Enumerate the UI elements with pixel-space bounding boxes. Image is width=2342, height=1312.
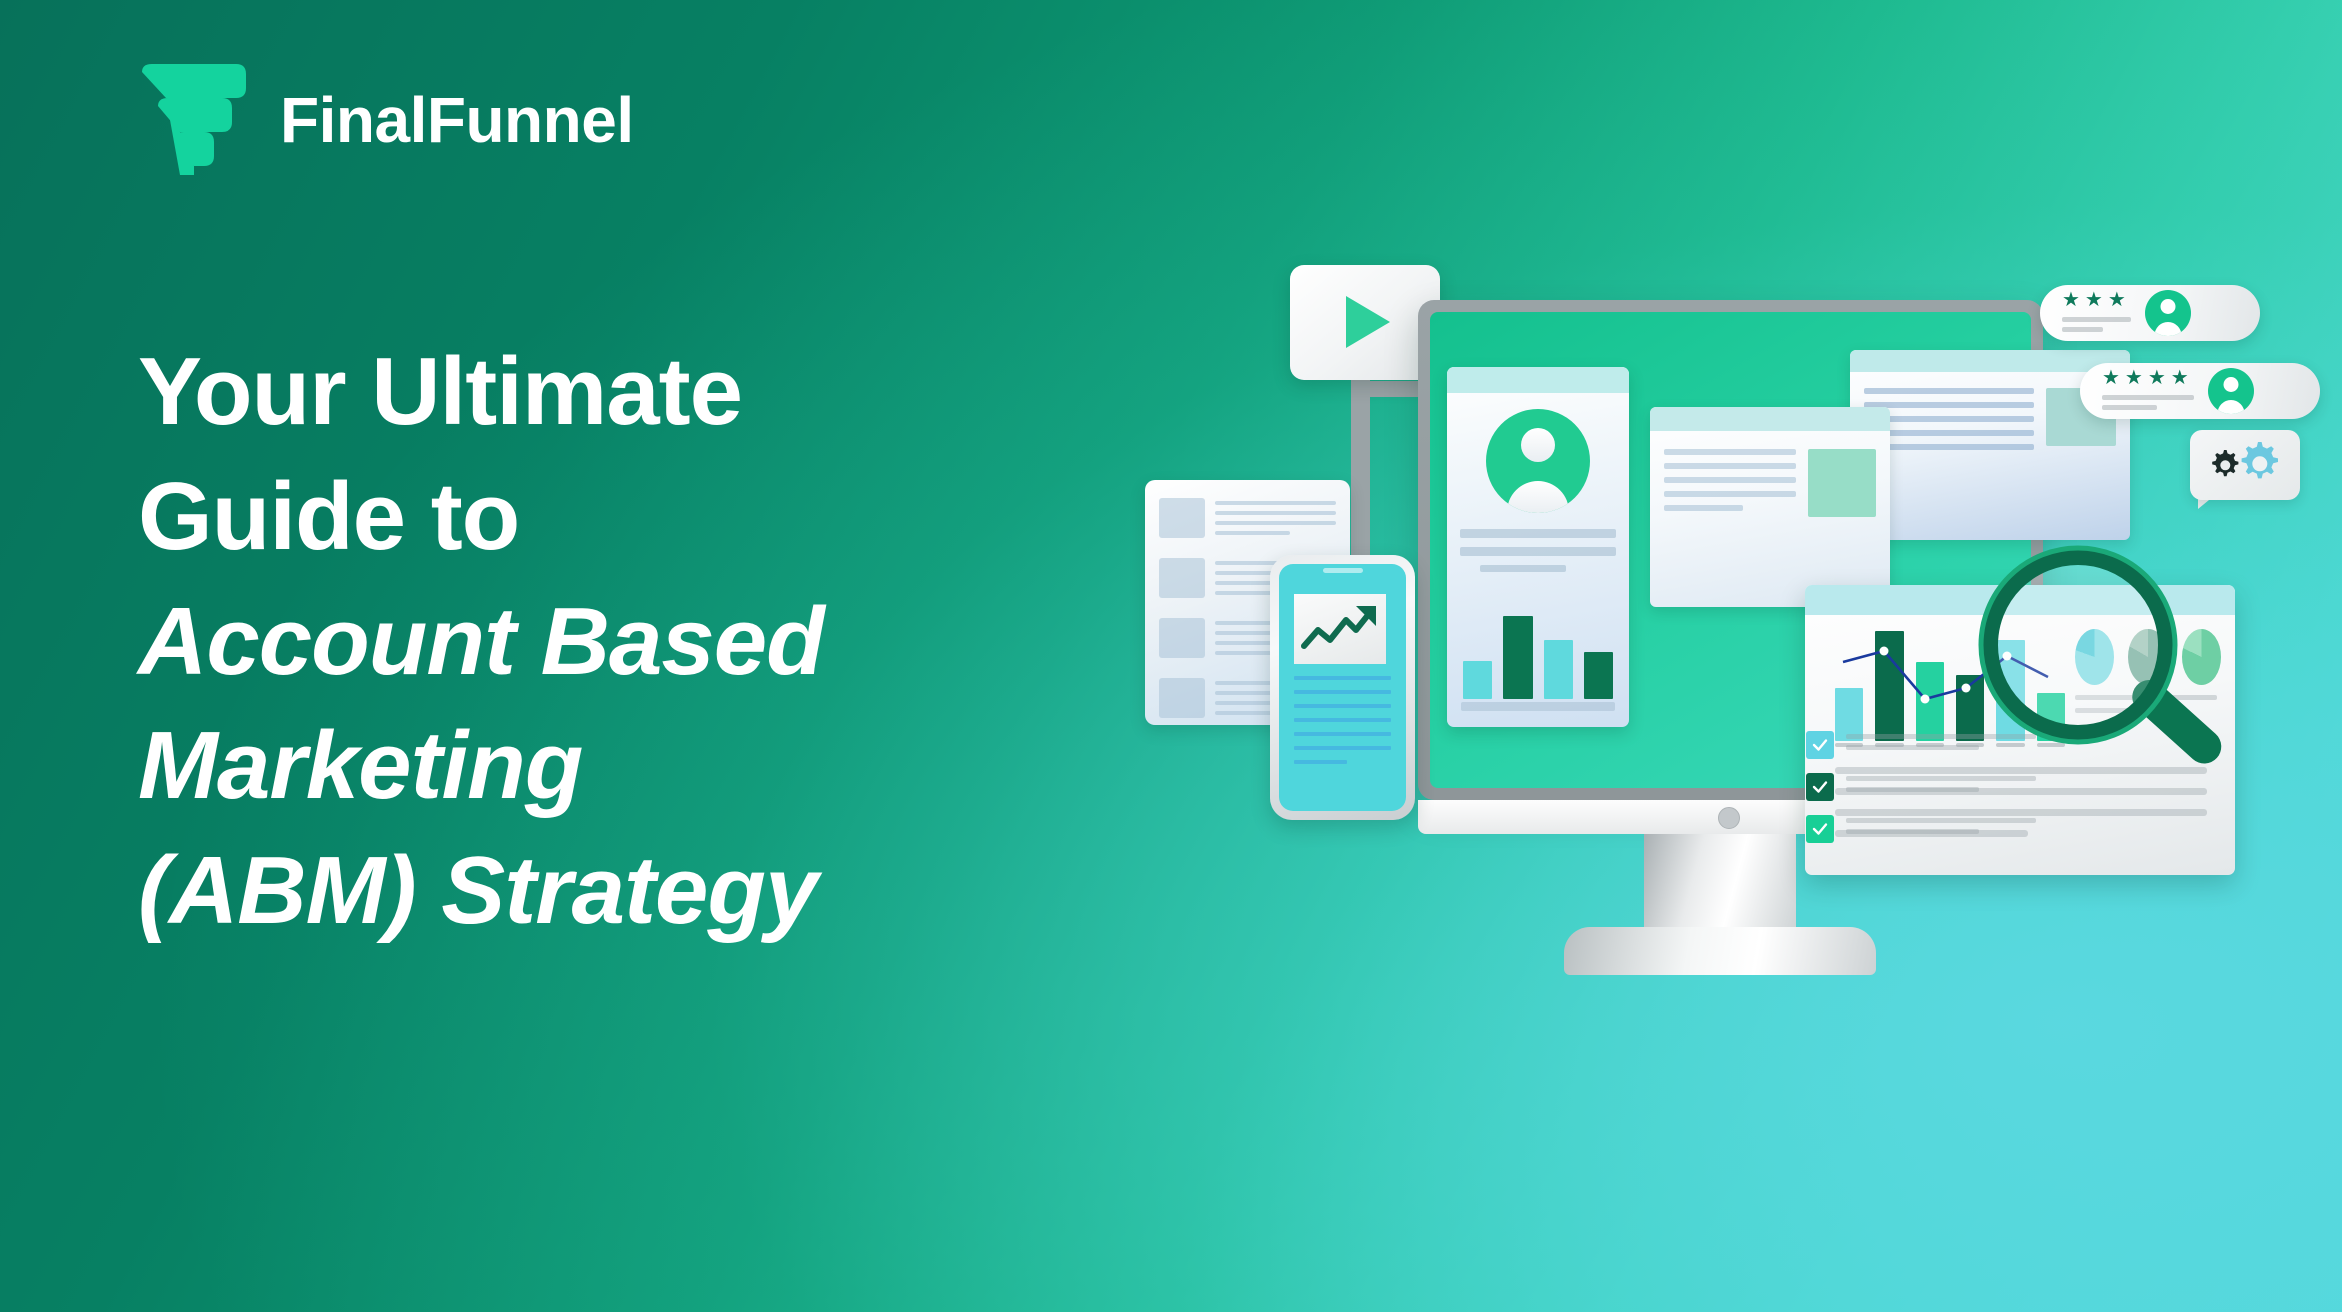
checklist xyxy=(1806,731,2036,857)
check-icon xyxy=(1811,820,1829,838)
thumbnail xyxy=(1159,558,1205,598)
text-lines xyxy=(1215,498,1336,541)
connector-stem xyxy=(1351,375,1370,575)
check-icon xyxy=(1811,778,1829,796)
review-card-1: ★★★ xyxy=(2040,285,2260,341)
pie-chart-2 xyxy=(2128,629,2167,685)
smartphone xyxy=(1270,555,1415,820)
phone-chart-area xyxy=(1294,594,1386,664)
article-preview-card xyxy=(1650,407,1890,607)
user-avatar-icon xyxy=(2145,290,2191,336)
thumbnail xyxy=(1159,498,1205,538)
headline-line-1: Your Ultimate xyxy=(138,330,1138,455)
user-avatar-icon xyxy=(1486,409,1590,513)
thumbnail xyxy=(1159,678,1205,718)
thumbnail xyxy=(1808,449,1876,517)
profile-bar-chart xyxy=(1461,609,1615,699)
list-item xyxy=(1806,815,2036,843)
card-header xyxy=(1447,367,1629,393)
chart-trend-line xyxy=(1835,631,2065,741)
bar-line-chart xyxy=(1835,631,2065,741)
user-profile-card xyxy=(1447,367,1629,727)
list-item xyxy=(1806,731,2036,759)
phone-screen xyxy=(1279,564,1406,811)
text-lines xyxy=(1664,449,1796,519)
headline-line-4: Marketing xyxy=(138,704,1138,829)
text-lines xyxy=(2071,685,2221,713)
headline-line-5: (ABM) Strategy xyxy=(138,829,1138,954)
user-avatar-icon xyxy=(2208,368,2254,414)
list-item xyxy=(1806,773,2036,801)
settings-gears-speech-bubble xyxy=(2190,430,2300,500)
chart-baseline xyxy=(1461,702,1615,711)
pie-charts-group xyxy=(2071,629,2221,685)
check-icon xyxy=(1811,736,1829,754)
card-header xyxy=(1850,350,2130,372)
card-header xyxy=(1805,585,2235,615)
review-card-2: ★★★★ xyxy=(2080,363,2320,419)
play-triangle-icon xyxy=(1346,296,1390,348)
headline-line-2: Guide to xyxy=(138,455,1138,580)
page-title: Your Ultimate Guide to Account Based Mar… xyxy=(138,330,1138,954)
text-lines xyxy=(1846,734,2036,756)
list-item xyxy=(1159,498,1336,541)
text-lines xyxy=(1846,818,2036,840)
monitor-power-dot-icon xyxy=(1718,807,1740,829)
star-rating-icon: ★★★ xyxy=(2062,290,2131,310)
monitor-neck xyxy=(1644,834,1796,938)
funnel-f-logo-icon xyxy=(140,62,248,177)
text-lines xyxy=(2062,317,2131,332)
text-lines xyxy=(1447,513,1629,572)
brand-logo[interactable]: FinalFunnel xyxy=(140,62,634,177)
dashboard-side-panel xyxy=(2071,629,2221,721)
thumbnail xyxy=(1159,618,1205,658)
gear-small-icon xyxy=(2212,450,2238,476)
phone-speaker xyxy=(1323,568,1363,573)
brand-name: FinalFunnel xyxy=(280,88,634,152)
hero-illustration: ★★★ ★★★★ xyxy=(1150,255,2280,1005)
checkbox-2[interactable] xyxy=(1806,773,1834,801)
card-header xyxy=(1650,407,1890,431)
text-lines xyxy=(1846,776,2036,798)
text-lines xyxy=(2102,395,2194,410)
monitor-base xyxy=(1564,927,1876,975)
checkbox-3[interactable] xyxy=(1806,815,1834,843)
headline-line-3: Account Based xyxy=(138,580,1138,705)
text-lines xyxy=(1294,676,1391,774)
star-rating-icon: ★★★★ xyxy=(2102,368,2194,388)
gear-large-icon xyxy=(2242,442,2278,478)
pie-chart-3 xyxy=(2182,629,2221,685)
trending-up-arrow-icon xyxy=(1294,594,1386,664)
pie-chart-1 xyxy=(2075,629,2114,685)
checkbox-1[interactable] xyxy=(1806,731,1834,759)
